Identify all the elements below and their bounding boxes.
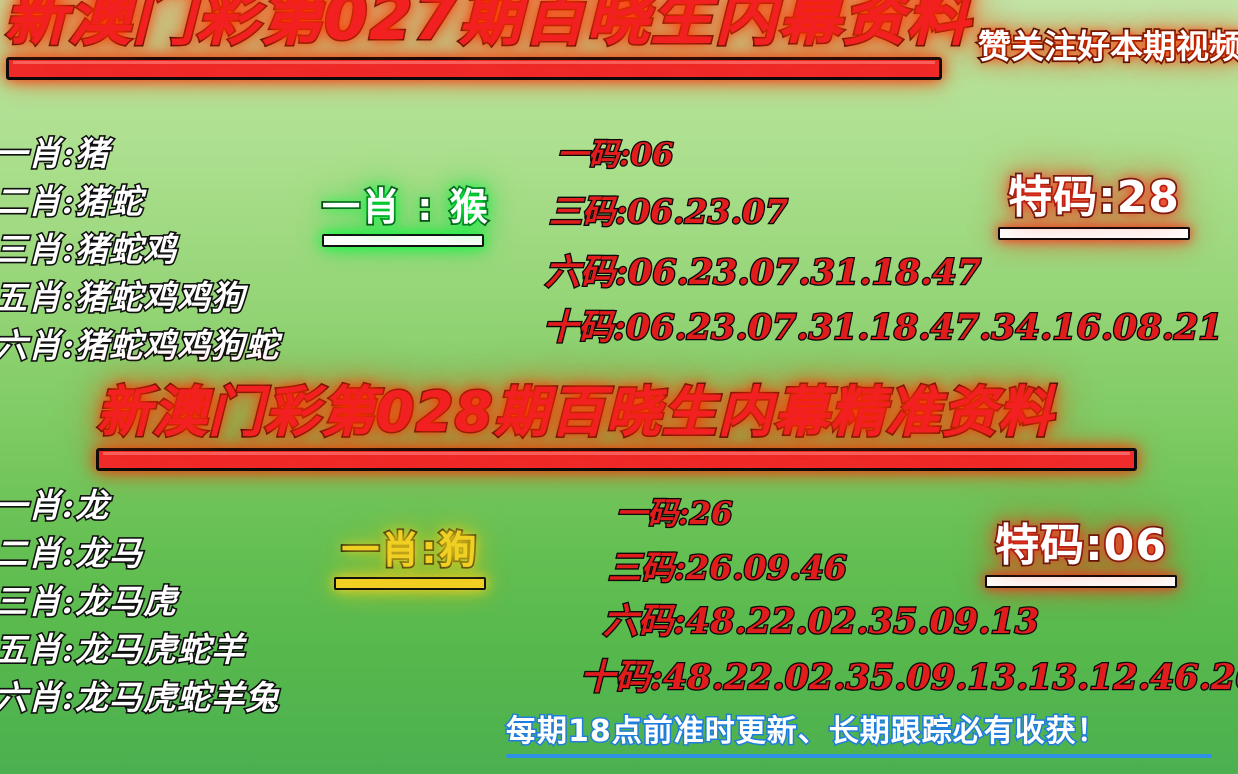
code-value: 06.23.07.31.18.47 — [628, 252, 981, 293]
single-pick-badge-028-text: 一肖:狗 — [334, 531, 486, 571]
zodiac-row: 二肖:龙马 — [0, 530, 279, 578]
section-title-027: 新澳门彩第027期百晓生内幕资料 — [4, 0, 971, 80]
code-value: 06.23.07.31.18.47.34.16.08.21 — [626, 307, 1223, 348]
special-code-badge-028: 特码:06 — [985, 523, 1177, 588]
code-line-ten-028: 十码:48.22.02.35.09.13.13.12.46.26.03 — [580, 660, 1238, 695]
footer-note-text: 每期18点前准时更新、长期跟踪必有收获！ — [506, 717, 1212, 747]
code-value: 06.23.07 — [627, 192, 788, 231]
code-label: 六码: — [545, 252, 628, 293]
single-pick-badge-027-text: 一肖 : 猴 — [322, 188, 490, 228]
code-label: 三码: — [549, 192, 627, 231]
zodiac-row: 二肖:猪蛇 — [0, 178, 279, 226]
section-title-027-underline — [6, 57, 942, 80]
code-line-ten-027: 十码:06.23.07.31.18.47.34.16.08.21 — [543, 310, 1223, 345]
code-value: 06 — [630, 137, 673, 173]
code-line-six-028: 六码:48.22.02.35.09.13 — [603, 604, 1039, 639]
special-code-badge-027: 特码:28 — [998, 175, 1190, 240]
single-pick-badge-028-underline — [334, 577, 486, 590]
special-code-badge-028-underline — [985, 575, 1177, 588]
section-title-028: 新澳门彩第028期百晓生内幕精准资料 — [96, 385, 1137, 471]
special-code-badge-028-text: 特码:06 — [985, 523, 1177, 569]
code-line-three-028: 三码:26.09.46 — [608, 551, 847, 584]
footer-note: 每期18点前准时更新、长期跟踪必有收获！ — [506, 717, 1212, 758]
zodiac-row: 五肖:猪蛇鸡鸡狗 — [0, 274, 279, 322]
zodiac-row: 六肖:猪蛇鸡鸡狗蛇 — [0, 322, 279, 370]
code-line-one-027: 一码:06 — [557, 140, 674, 171]
zodiac-row: 三肖:龙马虎 — [0, 578, 279, 626]
code-label: 一码: — [616, 496, 689, 532]
special-code-badge-027-text: 特码:28 — [998, 175, 1190, 221]
zodiac-row: 一肖:龙 — [0, 482, 279, 530]
zodiac-list-028: 一肖:龙 二肖:龙马 三肖:龙马虎 五肖:龙马虎蛇羊 六肖:龙马虎蛇羊兔 — [0, 482, 279, 722]
zodiac-row: 一肖:猪 — [0, 130, 279, 178]
section-title-028-underline — [96, 448, 1137, 471]
single-pick-badge-028: 一肖:狗 — [334, 531, 486, 590]
code-value: 48.22.02.35.09.13.13.12.46.26.03 — [663, 657, 1238, 698]
code-label: 六码: — [603, 601, 686, 642]
code-value: 26 — [689, 496, 732, 532]
zodiac-row: 六肖:龙马虎蛇羊兔 — [0, 674, 279, 722]
zodiac-row: 三肖:猪蛇鸡 — [0, 226, 279, 274]
section-title-028-text: 新澳门彩第028期百晓生内幕精准资料 — [96, 385, 1137, 440]
zodiac-list-027: 一肖:猪 二肖:猪蛇 三肖:猪蛇鸡 五肖:猪蛇鸡鸡狗 六肖:猪蛇鸡鸡狗蛇 — [0, 130, 279, 370]
code-label: 三码: — [608, 548, 686, 587]
section-title-027-text: 新澳门彩第027期百晓生内幕资料 — [4, 0, 971, 49]
single-pick-badge-027-underline — [322, 234, 484, 247]
code-label: 十码: — [543, 307, 626, 348]
code-line-six-027: 六码:06.23.07.31.18.47 — [545, 255, 981, 290]
promo-banner-text: 赞关注好本期视频 — [978, 30, 1238, 63]
poster-canvas: 新澳门彩第027期百晓生内幕资料 赞关注好本期视频 一肖:猪 二肖:猪蛇 三肖:… — [0, 0, 1238, 774]
zodiac-row: 五肖:龙马虎蛇羊 — [0, 626, 279, 674]
code-value: 26.09.46 — [686, 548, 847, 587]
code-line-three-027: 三码:06.23.07 — [549, 195, 788, 228]
code-value: 48.22.02.35.09.13 — [686, 601, 1039, 642]
code-label: 十码: — [580, 657, 663, 698]
code-line-one-028: 一码:26 — [616, 499, 733, 530]
footer-note-underline — [506, 754, 1212, 758]
single-pick-badge-027: 一肖 : 猴 — [322, 188, 490, 247]
special-code-badge-027-underline — [998, 227, 1190, 240]
code-label: 一码: — [557, 137, 630, 173]
